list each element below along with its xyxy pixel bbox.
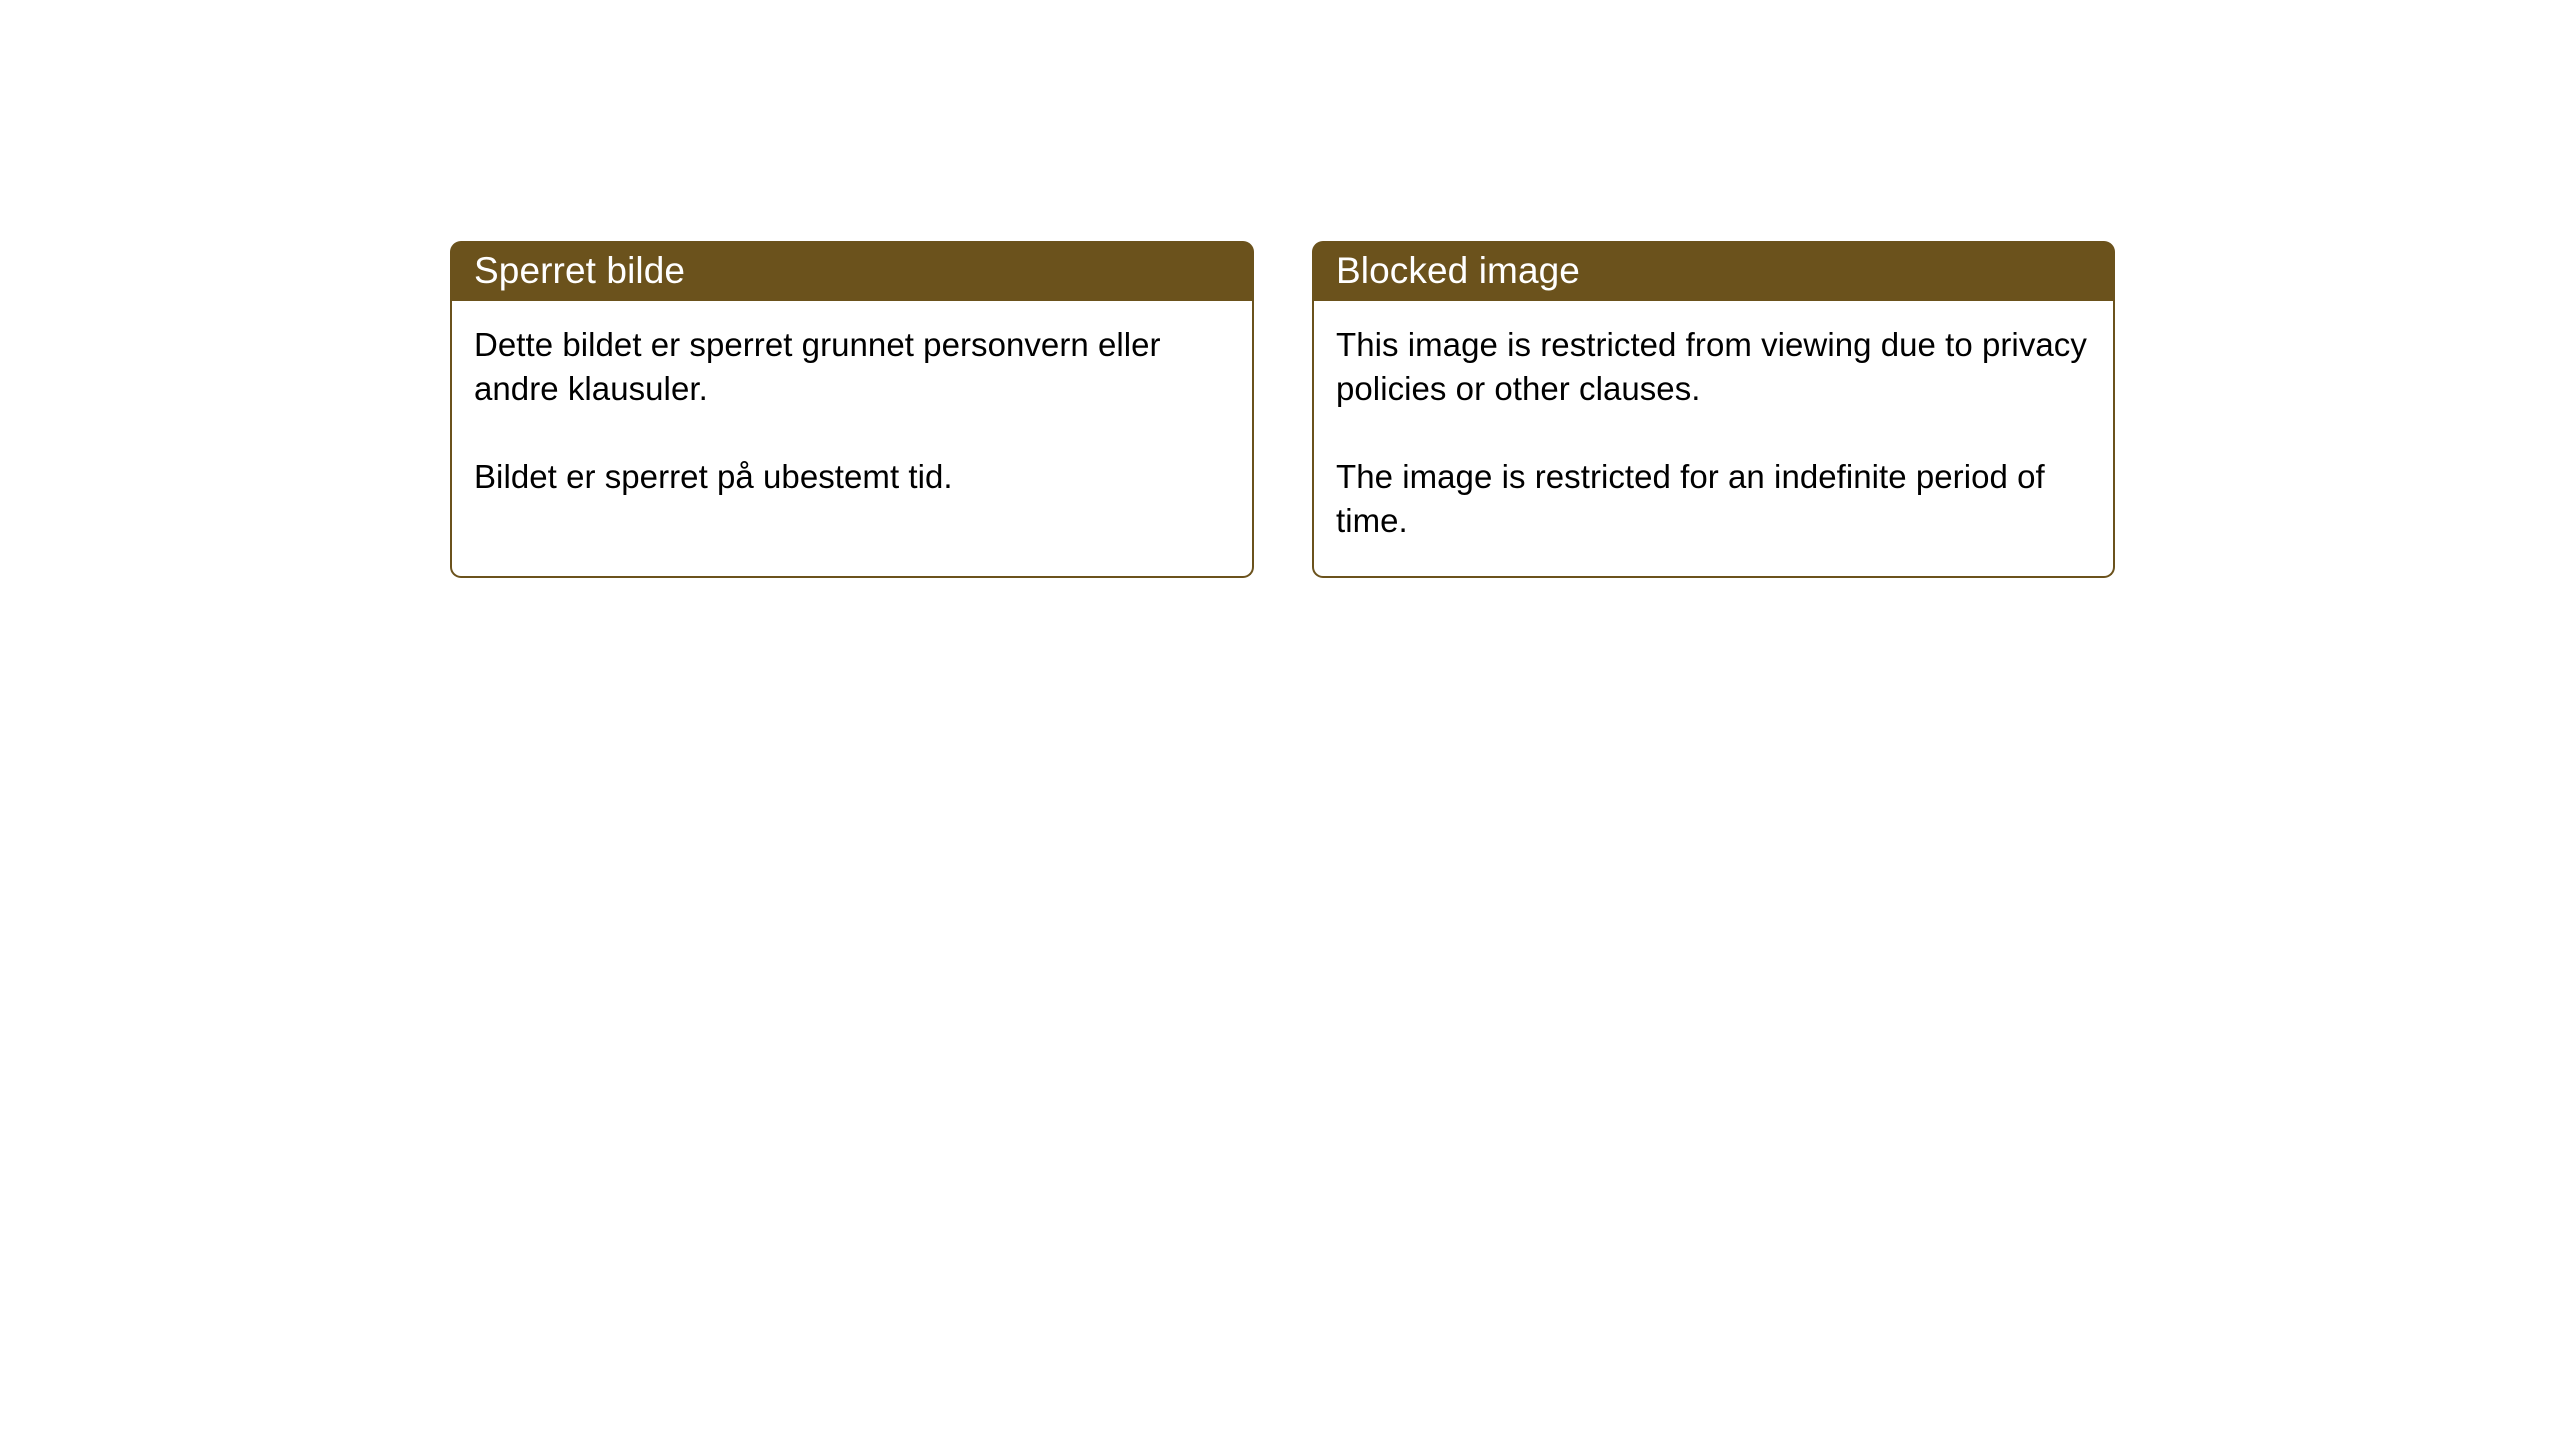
page-canvas: Sperret bilde Dette bildet er sperret gr…	[0, 0, 2560, 1440]
card-paragraph-secondary-en: The image is restricted for an indefinit…	[1336, 455, 2089, 543]
card-header-no: Sperret bilde	[450, 241, 1254, 301]
card-body-no: Dette bildet er sperret grunnet personve…	[450, 301, 1254, 578]
card-header-en: Blocked image	[1312, 241, 2115, 301]
card-paragraph-primary-en: This image is restricted from viewing du…	[1336, 323, 2089, 411]
blocked-image-notice-card-no: Sperret bilde Dette bildet er sperret gr…	[450, 241, 1254, 578]
card-title-en: Blocked image	[1336, 250, 1580, 292]
card-paragraph-primary-no: Dette bildet er sperret grunnet personve…	[474, 323, 1228, 411]
card-paragraph-secondary-no: Bildet er sperret på ubestemt tid.	[474, 455, 1228, 499]
card-title-no: Sperret bilde	[474, 250, 685, 292]
blocked-image-notice-card-en: Blocked image This image is restricted f…	[1312, 241, 2115, 578]
card-body-en: This image is restricted from viewing du…	[1312, 301, 2115, 578]
